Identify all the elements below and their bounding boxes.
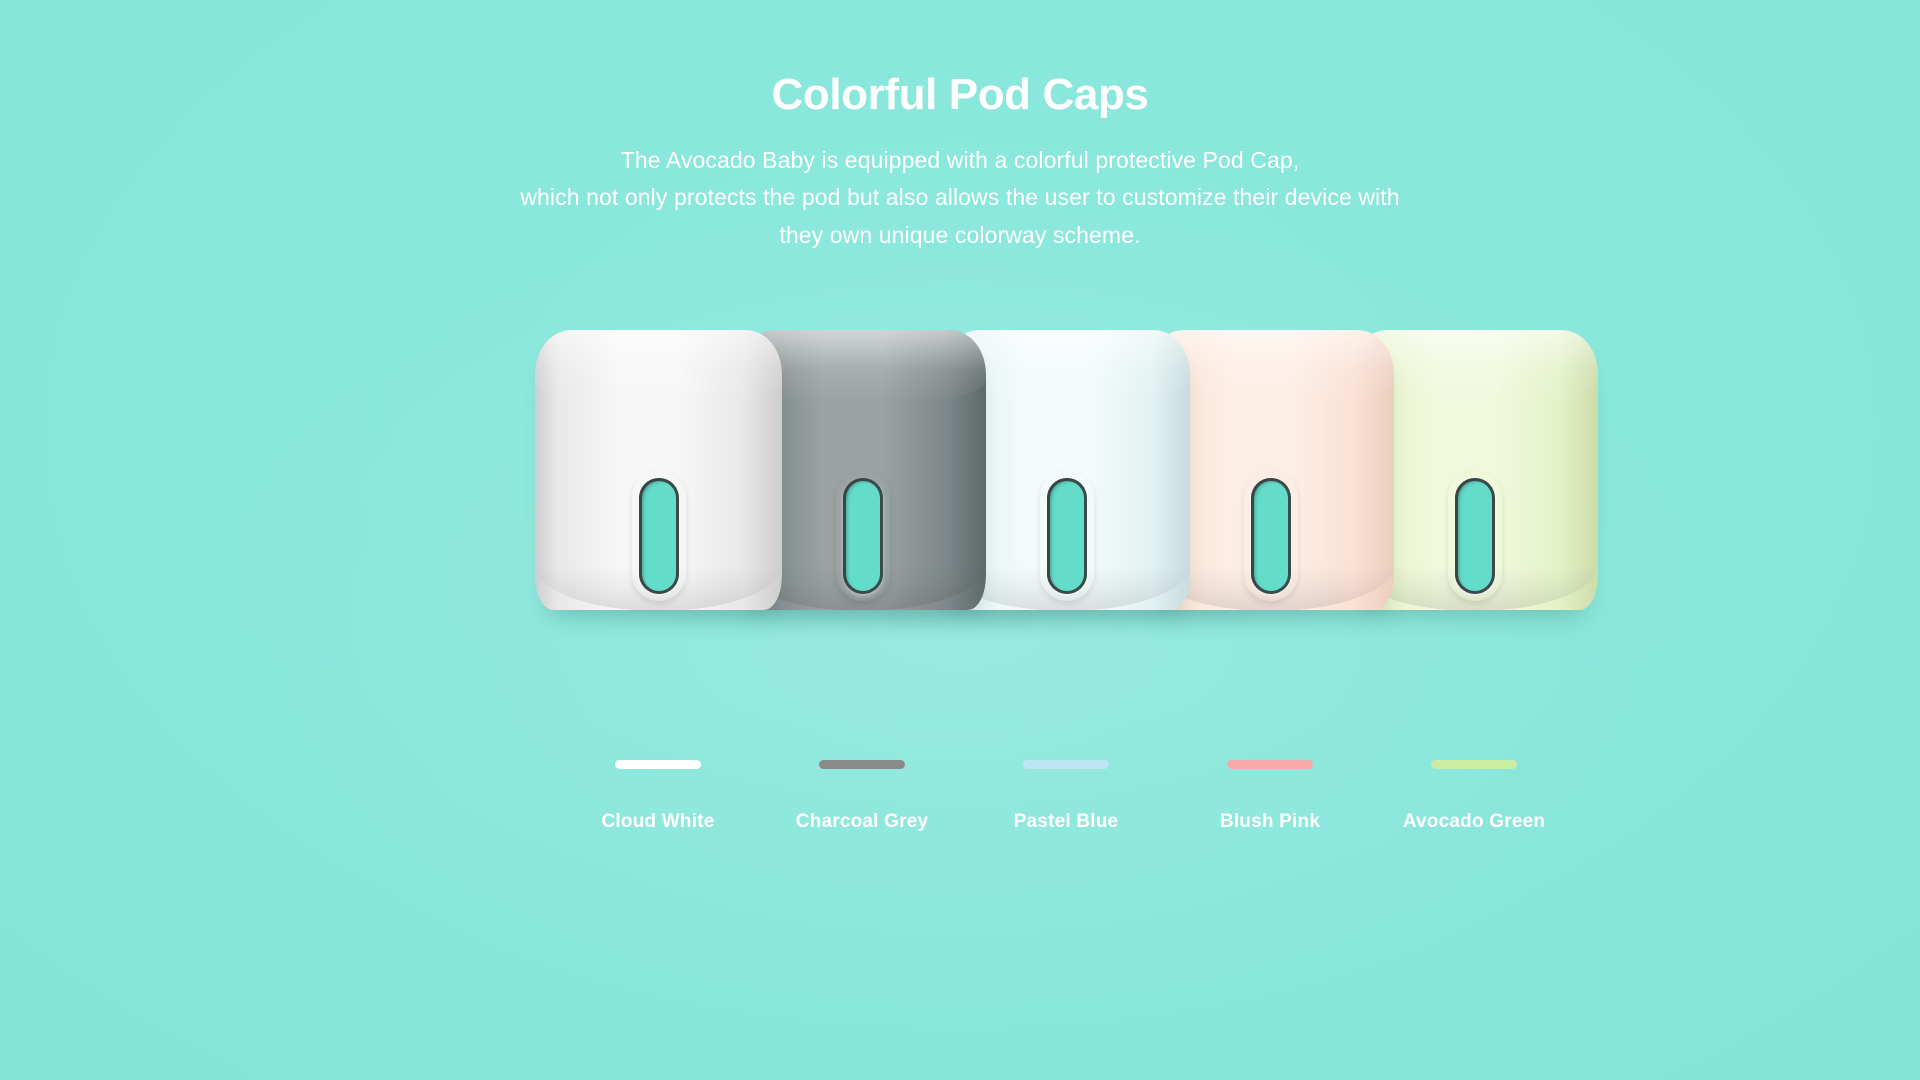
page-title: Colorful Pod Caps xyxy=(0,72,1920,118)
color-swatch-charcoal-grey[interactable] xyxy=(819,760,905,769)
pod-cap-window-slot xyxy=(639,478,679,594)
colorway-item-pastel-blue[interactable]: Pastel Blue xyxy=(966,760,1166,833)
colorway-label-avocado-green: Avocado Green xyxy=(1374,811,1574,833)
subtitle-line-2: which not only protects the pod but also… xyxy=(0,179,1920,216)
pod-cap-row xyxy=(410,330,1510,630)
pod-cap-window-slot xyxy=(1455,478,1495,594)
colorway-item-cloud-white[interactable]: Cloud White xyxy=(558,760,758,833)
colorway-label-charcoal-grey: Charcoal Grey xyxy=(762,811,962,833)
colorway-label-cloud-white: Cloud White xyxy=(558,811,758,833)
pod-cap-window-slot xyxy=(1047,478,1087,594)
colorway-label-blush-pink: Blush Pink xyxy=(1170,811,1370,833)
pod-cap-cloud-white[interactable] xyxy=(535,330,782,610)
pod-cap-window-slot xyxy=(843,478,883,594)
pod-cap-showcase xyxy=(0,330,1920,750)
colorway-item-blush-pink[interactable]: Blush Pink xyxy=(1170,760,1370,833)
colorway-item-avocado-green[interactable]: Avocado Green xyxy=(1374,760,1574,833)
color-swatch-blush-pink[interactable] xyxy=(1227,760,1313,769)
colorway-legend: Cloud WhiteCharcoal GreyPastel BlueBlush… xyxy=(0,760,1920,940)
color-swatch-avocado-green[interactable] xyxy=(1431,760,1517,769)
pod-cap-window-slot xyxy=(1251,478,1291,594)
colorway-label-pastel-blue: Pastel Blue xyxy=(966,811,1166,833)
pod-cap-body xyxy=(535,330,782,610)
color-swatch-pastel-blue[interactable] xyxy=(1023,760,1109,769)
header-section: Colorful Pod Caps The Avocado Baby is eq… xyxy=(0,0,1920,254)
color-swatch-cloud-white[interactable] xyxy=(615,760,701,769)
subtitle-line-3: they own unique colorway scheme. xyxy=(0,217,1920,254)
colorway-item-charcoal-grey[interactable]: Charcoal Grey xyxy=(762,760,962,833)
subtitle-line-1: The Avocado Baby is equipped with a colo… xyxy=(0,142,1920,179)
page-subtitle: The Avocado Baby is equipped with a colo… xyxy=(0,142,1920,254)
